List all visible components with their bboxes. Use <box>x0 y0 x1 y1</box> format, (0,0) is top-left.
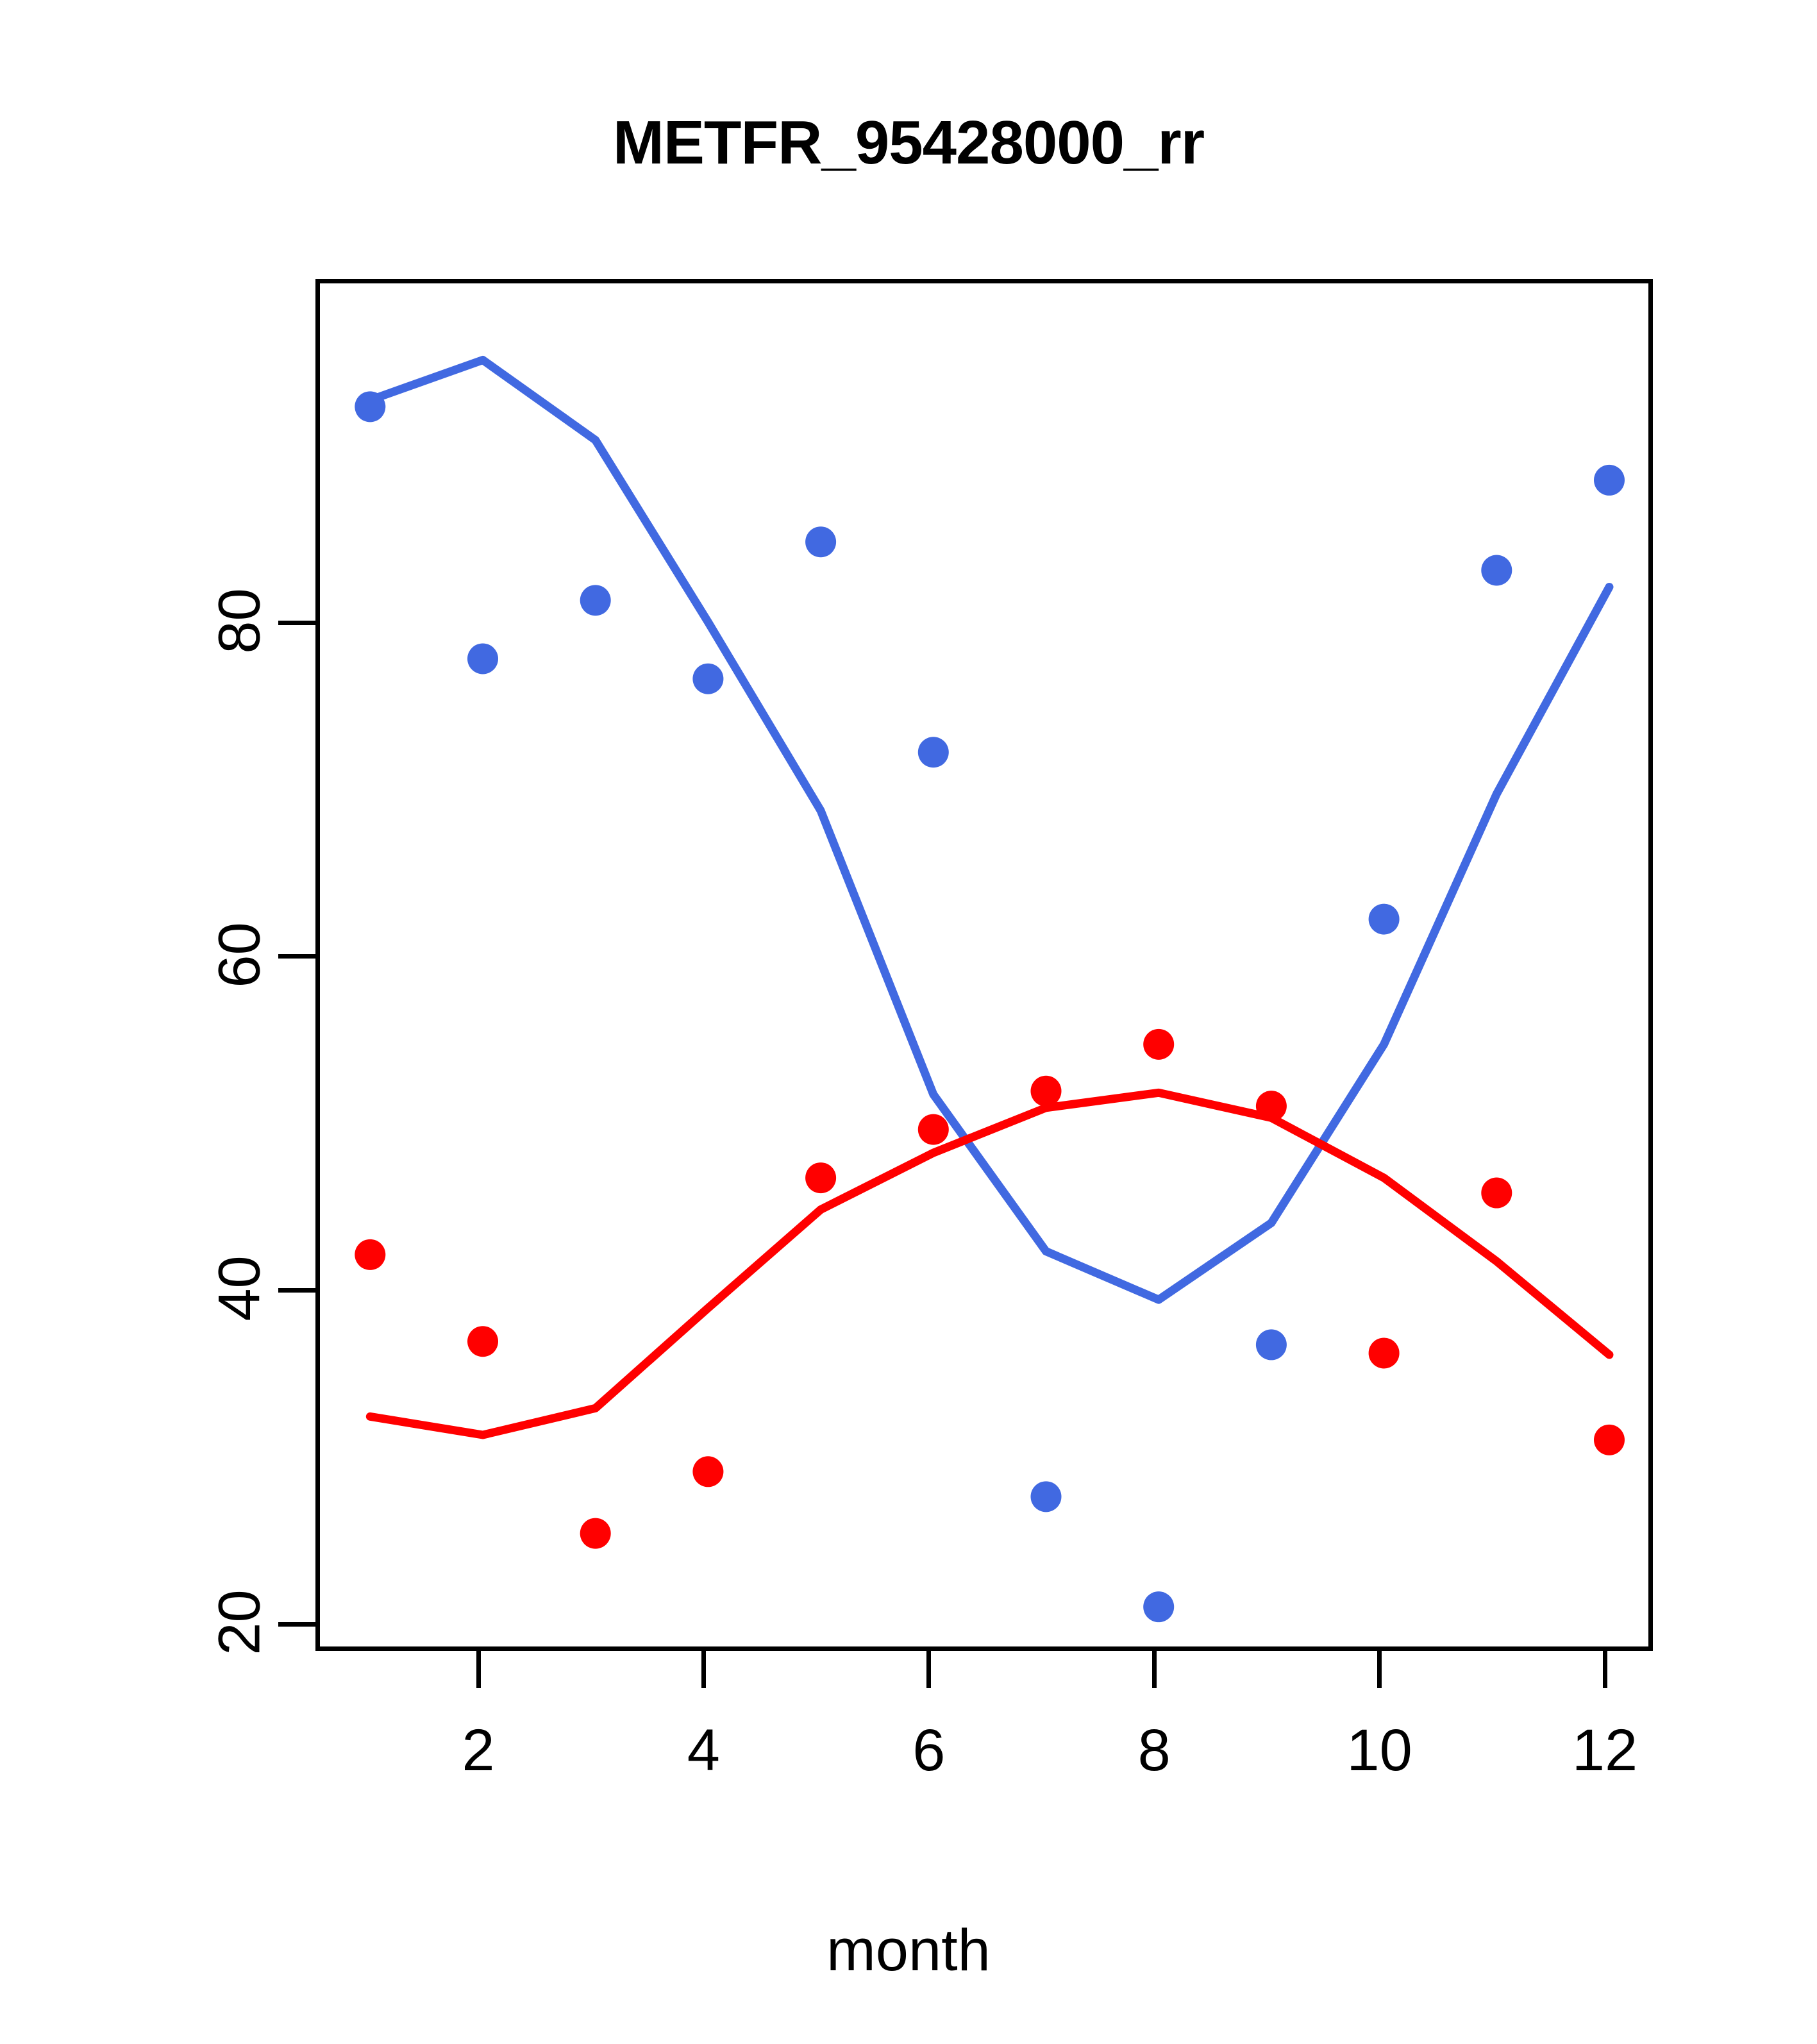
y-tick-mark <box>278 954 315 959</box>
data-point <box>1369 1337 1400 1368</box>
x-tick-mark <box>1603 1651 1607 1688</box>
x-tick-label: 2 <box>401 1717 555 1784</box>
data-point <box>467 643 498 674</box>
data-point <box>355 391 385 422</box>
data-point <box>692 1456 723 1487</box>
x-axis-label: month <box>0 1917 1817 1984</box>
data-point <box>355 1239 385 1270</box>
data-point <box>1369 904 1400 935</box>
x-tick-mark <box>701 1651 706 1688</box>
x-tick-mark <box>1377 1651 1382 1688</box>
data-point <box>1256 1329 1287 1360</box>
data-point <box>918 737 949 767</box>
data-point <box>1143 1591 1174 1622</box>
x-tick-mark <box>476 1651 481 1688</box>
data-point <box>805 526 836 557</box>
data-point <box>692 664 723 694</box>
plot-canvas <box>320 283 1657 1655</box>
y-tick-label: 80 <box>206 551 274 692</box>
data-point <box>580 1518 611 1549</box>
page-title: METFR_95428000_rr <box>0 108 1817 178</box>
x-tick-label: 12 <box>1528 1717 1682 1784</box>
x-tick-mark <box>926 1651 931 1688</box>
data-point <box>467 1326 498 1357</box>
data-point <box>580 585 611 616</box>
data-point <box>1031 1076 1062 1107</box>
series-points-blue-observations <box>355 391 1625 1622</box>
x-tick-label: 10 <box>1303 1717 1457 1784</box>
chart-figure: METFR_95428000_rr 20406080 24681012 mont… <box>0 0 1817 2044</box>
data-point <box>1031 1481 1062 1512</box>
y-tick-mark <box>278 1622 315 1627</box>
y-tick-mark <box>278 1288 315 1293</box>
data-point <box>1481 555 1512 585</box>
series-points-red-observations <box>355 1029 1625 1549</box>
data-point <box>1481 1178 1512 1209</box>
x-tick-label: 6 <box>852 1717 1006 1784</box>
y-tick-label: 20 <box>206 1552 274 1693</box>
data-point <box>1256 1091 1287 1121</box>
plot-area <box>315 279 1653 1651</box>
data-point <box>1594 1425 1625 1455</box>
data-point <box>1594 465 1625 496</box>
data-point <box>1143 1029 1174 1060</box>
x-tick-mark <box>1152 1651 1157 1688</box>
series-line-blue-fit <box>370 360 1609 1300</box>
y-tick-mark <box>278 621 315 625</box>
x-tick-label: 8 <box>1077 1717 1231 1784</box>
y-tick-label: 60 <box>206 884 274 1025</box>
data-point <box>918 1114 949 1145</box>
series-line-red-fit <box>370 1093 1609 1435</box>
y-tick-label: 40 <box>206 1218 274 1359</box>
x-tick-label: 4 <box>626 1717 780 1784</box>
data-point <box>805 1162 836 1193</box>
